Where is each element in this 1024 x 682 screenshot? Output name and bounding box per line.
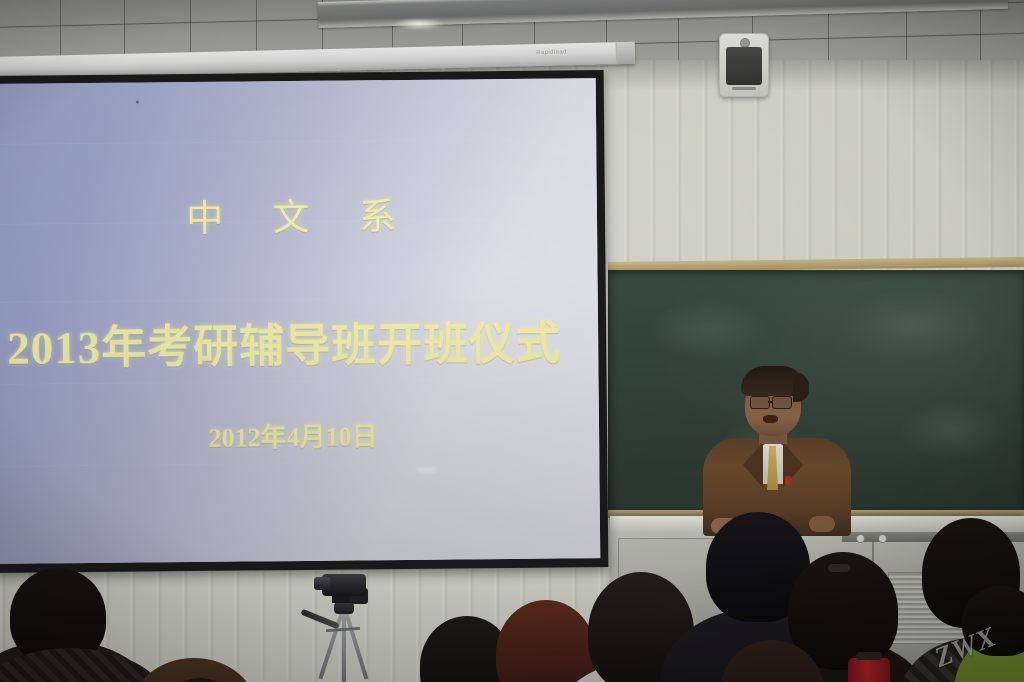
presenter-lapel-pin bbox=[785, 476, 791, 485]
audience-foreground bbox=[0, 490, 1024, 682]
thermos-lid bbox=[856, 652, 882, 660]
audience-head-10 bbox=[962, 586, 1024, 656]
presenter-glasses-right bbox=[772, 396, 792, 409]
speaker-grille bbox=[726, 47, 762, 85]
wall-speaker-icon bbox=[719, 33, 769, 97]
thermos-cup bbox=[848, 658, 890, 682]
screen-housing-endcap bbox=[616, 42, 636, 64]
presenter-glasses-bridge bbox=[768, 401, 773, 403]
presenter-mouth bbox=[763, 415, 778, 423]
audience-head-4 bbox=[496, 600, 596, 682]
speaker-slot bbox=[732, 87, 756, 90]
screen-brand-label: Rapidlead bbox=[536, 49, 567, 56]
hair-clip-icon bbox=[828, 564, 850, 572]
lecture-hall-photo: Rapidlead 中 文 系 2013年考研辅导班开班仪式 2012年4月10… bbox=[0, 0, 1024, 682]
presenter-glasses-left bbox=[750, 396, 770, 409]
light-glare bbox=[392, 18, 446, 30]
presenter-hair-side bbox=[793, 372, 809, 402]
